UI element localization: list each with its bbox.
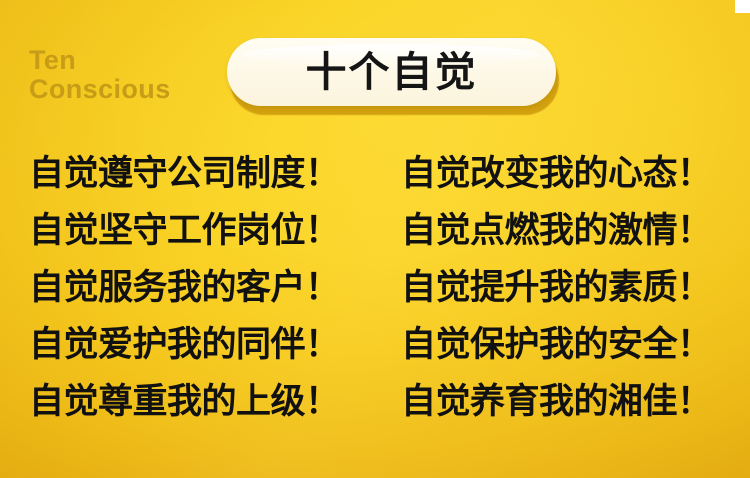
slogan-column-right: 自觉改变我的心态！ 自觉点燃我的激情！ 自觉提升我的素质！ 自觉保护我的安全！ … [401,150,712,435]
slogan-item: 自觉爱护我的同伴！ [29,321,340,378]
page-title: 十个自觉 [306,52,478,93]
slogan-item: 自觉点燃我的激情！ [401,207,712,264]
slogan-item: 自觉坚守工作岗位！ [29,207,340,264]
slogan-item: 自觉养育我的湘佳！ [401,378,712,435]
title-banner: 十个自觉 [227,38,556,106]
kicker-line-2: Conscious [29,75,171,104]
english-kicker: Ten Conscious [29,46,171,104]
corner-notch [735,0,750,13]
slogan-column-left: 自觉遵守公司制度！ 自觉坚守工作岗位！ 自觉服务我的客户！ 自觉爱护我的同伴！ … [29,150,340,435]
slogan-item: 自觉提升我的素质！ [401,264,712,321]
slogan-item: 自觉改变我的心态！ [401,150,712,207]
slogan-item: 自觉保护我的安全！ [401,321,712,378]
kicker-line-1: Ten [29,46,171,75]
slogan-item: 自觉服务我的客户！ [29,264,340,321]
slogan-item: 自觉尊重我的上级！ [29,378,340,435]
slogan-item: 自觉遵守公司制度！ [29,150,340,207]
title-pill: 十个自觉 [227,38,556,106]
poster-canvas: Ten Conscious 十个自觉 自觉遵守公司制度！ 自觉坚守工作岗位！ 自… [0,0,750,478]
